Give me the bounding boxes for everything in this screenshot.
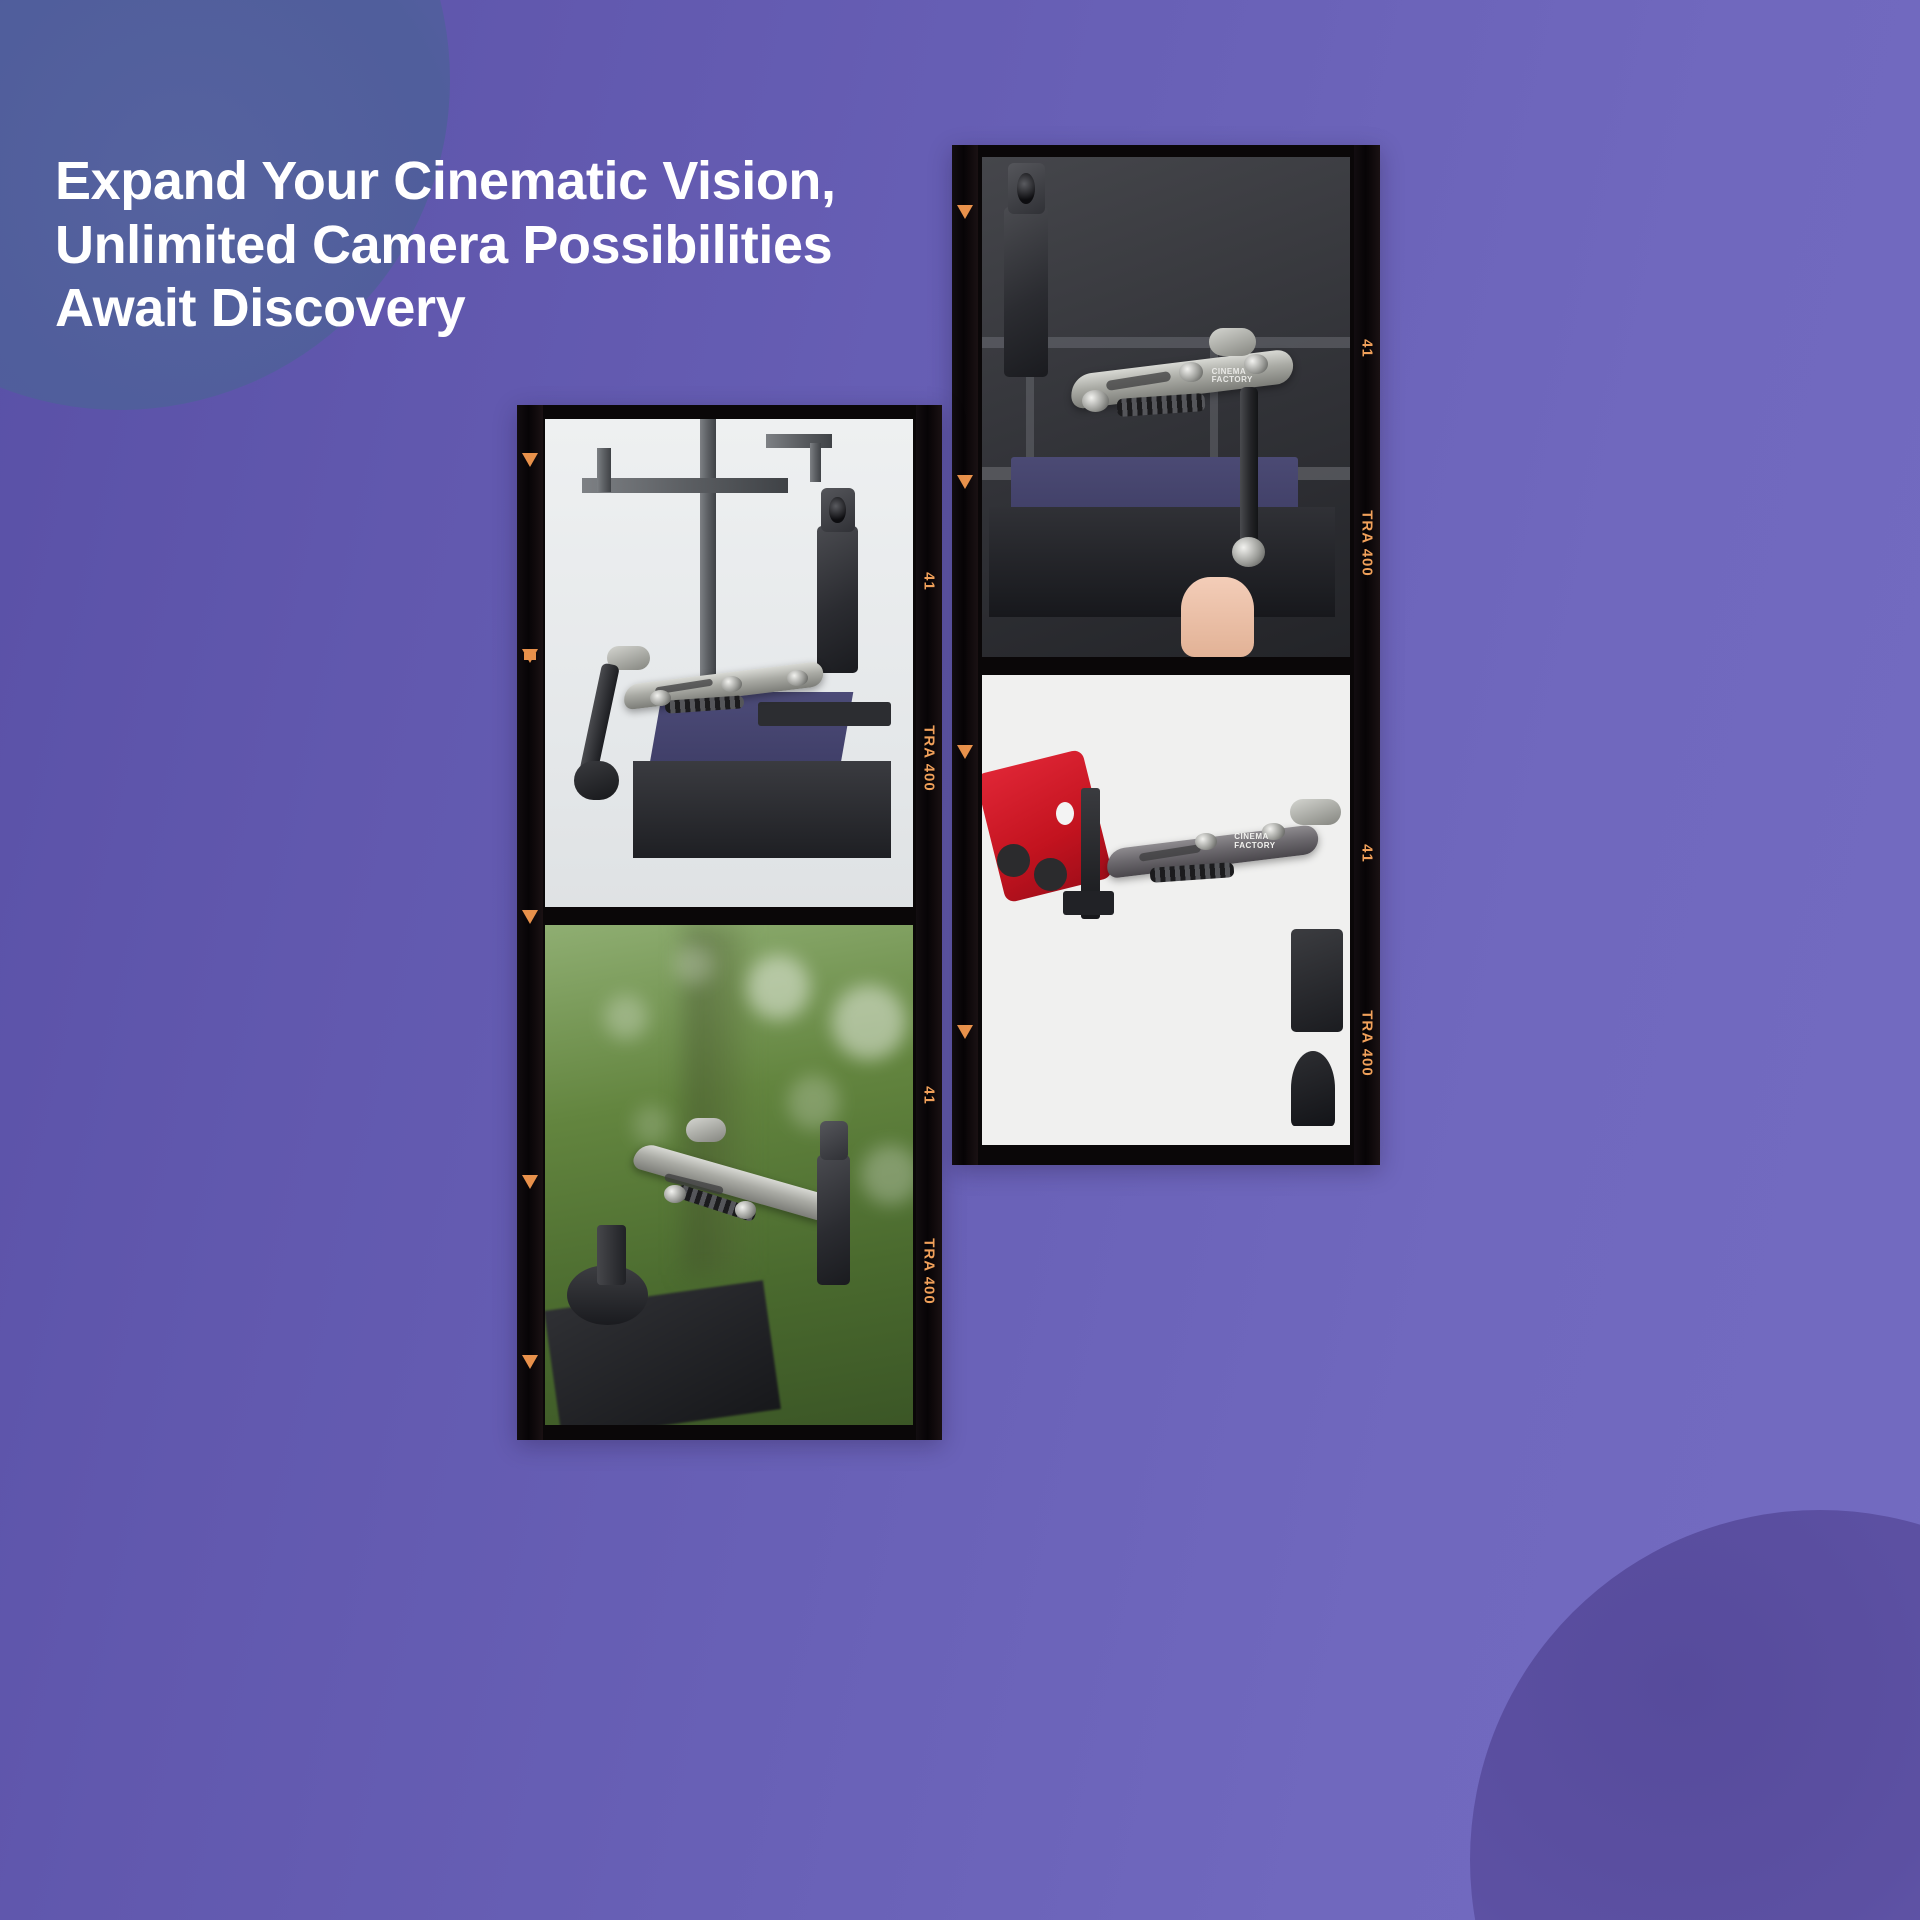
- film-stock-label-2: TRA 400: [1359, 1010, 1376, 1076]
- film-strip-right: 41 TRA 400 41 TRA 400: [952, 145, 1380, 1165]
- film-strip-left: 41 TRA 400 41 TRA 400: [517, 405, 942, 1440]
- film-stock-label-left: TRA 400: [921, 725, 938, 791]
- film-frame-number-left: 41: [921, 572, 938, 591]
- photo-studio-white-rig: [545, 419, 913, 907]
- damper-arm-graphic-3: [597, 614, 862, 760]
- damper-arm-graphic-2: CINEMA FACTORY: [1078, 769, 1350, 938]
- film-frame-number-2: 41: [1359, 844, 1376, 863]
- photo-red-iphone-mount: CINEMA FACTORY: [982, 675, 1350, 1145]
- film-frame-number-left-2: 41: [921, 1086, 938, 1105]
- film-frame-number: 41: [1359, 339, 1376, 358]
- photo-forest-bike-mount: [545, 925, 913, 1425]
- film-edge-right: 41 TRA 400 41 TRA 400: [1354, 145, 1380, 1165]
- brand-line-2-b: FACTORY: [1234, 841, 1275, 850]
- film-stock-label: TRA 400: [1359, 510, 1376, 576]
- film-edge-right-2: 41 TRA 400 41 TRA 400: [916, 405, 942, 1440]
- film-edge-left: [952, 145, 978, 1165]
- support-post-graphic: [982, 157, 1350, 657]
- film-stock-label-left-2: TRA 400: [921, 1238, 938, 1304]
- headline-line-3: Await Discovery: [55, 277, 955, 341]
- headline-line-2: Unlimited Camera Possibilities: [55, 214, 955, 278]
- poster-canvas: Expand Your Cinematic Vision, Unlimited …: [0, 0, 1920, 1920]
- headline: Expand Your Cinematic Vision, Unlimited …: [55, 150, 955, 341]
- photo-dark-studio-arm: CINEMA FACTORY: [982, 157, 1350, 657]
- headline-line-1: Expand Your Cinematic Vision,: [55, 150, 955, 214]
- film-edge-left-2: [517, 405, 543, 1440]
- action-camera-icon: [817, 1155, 850, 1285]
